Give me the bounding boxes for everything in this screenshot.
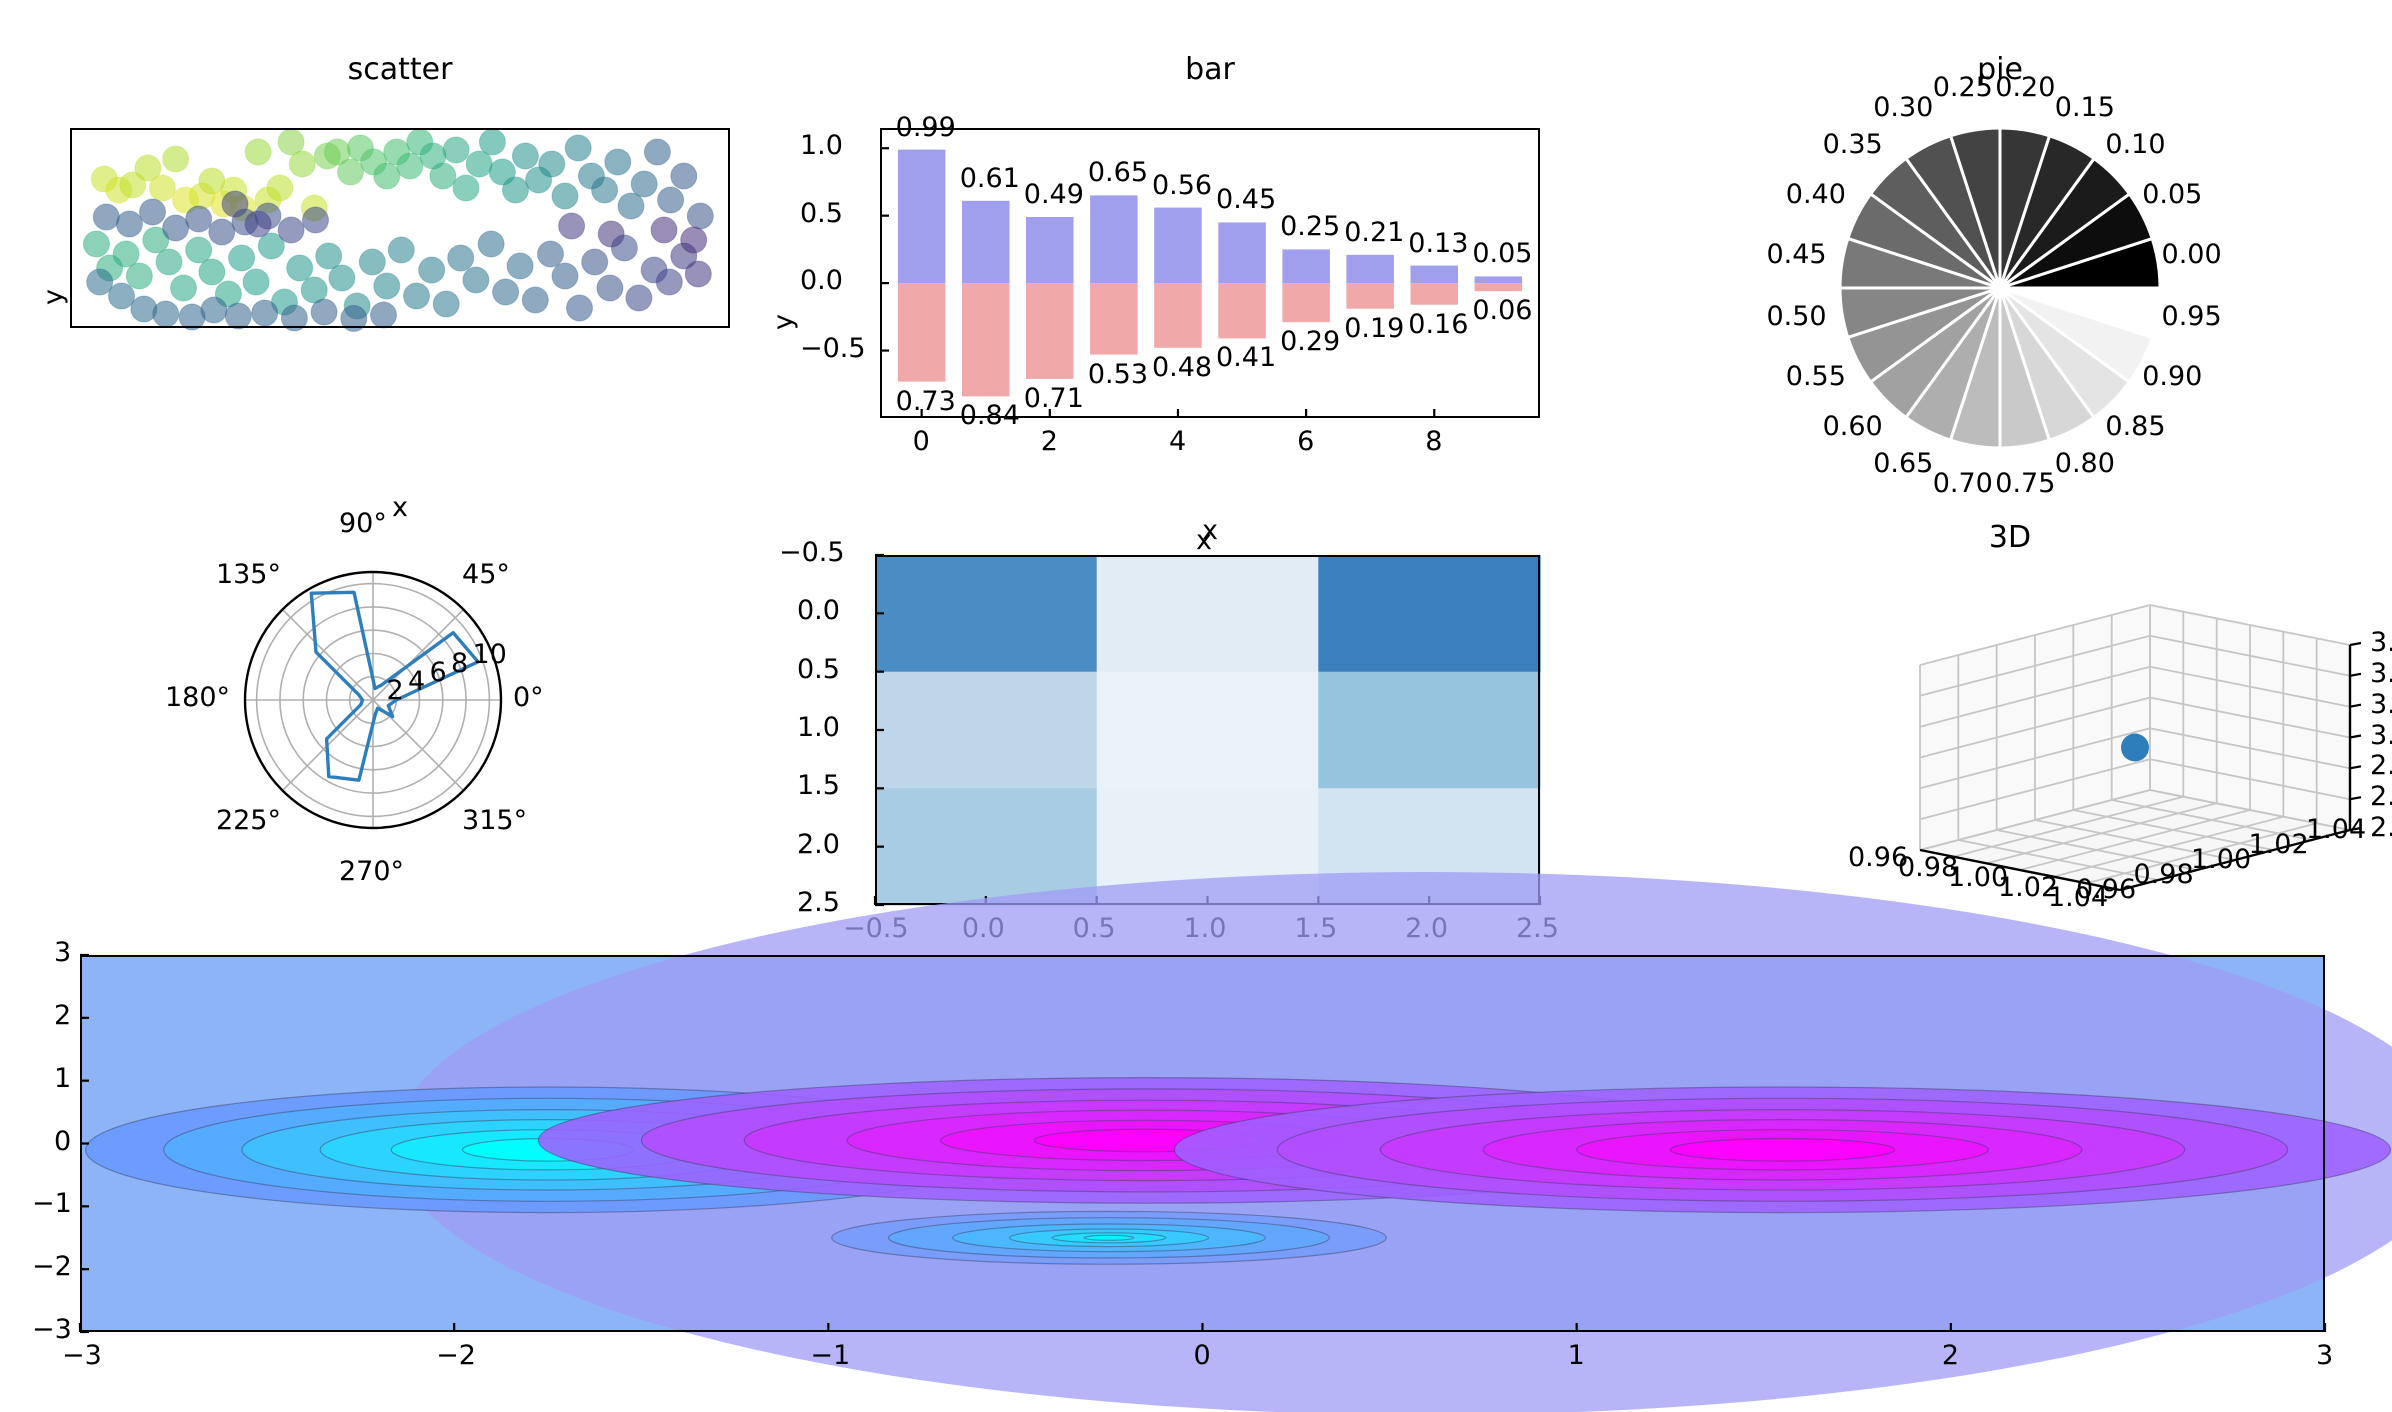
- scatter-point: [267, 175, 293, 201]
- scatter-point: [656, 269, 682, 295]
- scatter-point: [201, 297, 227, 323]
- scatter-point: [171, 275, 197, 301]
- heatmap-cell: [875, 555, 1097, 672]
- bar-positive: [1346, 255, 1394, 283]
- pie-slice-label: 0.05: [2142, 179, 2202, 210]
- scatter-point: [374, 273, 400, 299]
- scatter3d-title: 3D: [1900, 520, 2120, 555]
- heatmap-ytick-label: 0.5: [797, 654, 840, 685]
- bar-xtick-label: 8: [1425, 426, 1442, 457]
- contour-xtick-label: 2: [1942, 1340, 1959, 1371]
- scatter-point: [685, 261, 711, 287]
- scatter-point: [245, 211, 271, 237]
- scatter-point: [651, 217, 677, 243]
- scatter-point: [109, 283, 135, 309]
- scatter-title: scatter: [70, 52, 730, 87]
- heatmap-plot-area: [875, 555, 1540, 905]
- pie-plot-area: [1830, 118, 2170, 458]
- pie-slice-label: 0.65: [1873, 448, 1933, 479]
- ztick-3d: [2350, 736, 2361, 738]
- scatter3d-ytick-label: 1.02: [2249, 829, 2309, 860]
- bar-positive: [1218, 222, 1266, 283]
- scatter-point: [658, 187, 684, 213]
- panel-heatmap: [875, 555, 1540, 905]
- polar-theta-label: 180°: [165, 682, 230, 713]
- bar-xtick-label: 6: [1297, 426, 1314, 457]
- scatter-point: [388, 237, 414, 263]
- polar-radial-label: 4: [408, 666, 425, 697]
- scatter-point: [433, 291, 459, 317]
- bar-positive: [962, 201, 1010, 283]
- scatter-point: [463, 267, 489, 293]
- bar-positive-label: 0.99: [896, 112, 956, 143]
- contour-ytick-label: −1: [32, 1188, 72, 1219]
- scatter-point: [507, 253, 533, 279]
- bar-negative-label: 0.73: [896, 386, 956, 417]
- contour-ytick-label: 3: [54, 937, 71, 968]
- pie-slice-label: 0.55: [1786, 361, 1846, 392]
- heatmap-cell: [1318, 672, 1540, 789]
- ztick-3d: [2350, 705, 2361, 707]
- contour-plot-area: [80, 955, 2325, 1332]
- scatter-point: [316, 243, 342, 269]
- scatter-point: [126, 263, 152, 289]
- contour-xtick-label: 3: [2316, 1340, 2333, 1371]
- polar-theta-label: 225°: [216, 805, 281, 836]
- bar-positive-label: 0.05: [1472, 238, 1532, 269]
- scatter-point: [626, 285, 652, 311]
- bar-negative-label: 0.53: [1088, 359, 1148, 390]
- scatter-point: [93, 204, 119, 230]
- polar-radial-label: 2: [387, 675, 404, 706]
- scatter-point: [552, 263, 578, 289]
- bar-negative: [1411, 283, 1459, 305]
- scatter-point: [149, 175, 175, 201]
- scatter-point: [397, 153, 423, 179]
- bar-positive-label: 0.56: [1152, 170, 1212, 201]
- scatter-point: [681, 227, 707, 253]
- heatmap-ytick-label: 1.0: [797, 712, 840, 743]
- scatter-point: [245, 139, 271, 165]
- pie-slice-label: 0.10: [2105, 129, 2165, 160]
- scatter-point: [567, 295, 593, 321]
- scatter-point: [311, 299, 337, 325]
- pie-slice-label: 0.75: [1995, 468, 2055, 499]
- scatter3d-ytick-label: 0.98: [2134, 859, 2194, 890]
- scatter-point: [687, 203, 713, 229]
- scatter-point: [289, 151, 315, 177]
- scatter3d-ztick-label: 2.95: [2370, 750, 2392, 781]
- bar-positive-label: 0.45: [1216, 184, 1276, 215]
- scatter-point: [222, 191, 248, 217]
- scatter-point: [87, 269, 113, 295]
- scatter-point: [303, 207, 329, 233]
- scatter-point: [618, 193, 644, 219]
- ztick-3d: [2350, 766, 2361, 768]
- pie-slice-label: 0.35: [1823, 129, 1883, 160]
- polar-theta-label: 135°: [216, 559, 281, 590]
- scatter3d-ztick-label: 3.05: [2370, 689, 2392, 720]
- scatter-point: [671, 163, 697, 189]
- scatter-point: [539, 151, 565, 177]
- scatter-point: [479, 129, 505, 155]
- panel-pie: [1830, 118, 2170, 458]
- heatmap-ytick-label: −0.5: [779, 537, 845, 568]
- scatter3d-ytick-label: 0.96: [2076, 874, 2136, 905]
- scatter-point: [229, 245, 255, 271]
- bar-ytick-label: 0.5: [800, 198, 843, 229]
- scatter3d-ztick-label: 3.00: [2370, 720, 2392, 751]
- contour-xtick-label: −2: [436, 1340, 476, 1371]
- scatter-point: [153, 301, 179, 327]
- scatter-point: [281, 305, 307, 331]
- contour-ytick-label: 0: [54, 1126, 71, 1157]
- scatter-point: [453, 175, 479, 201]
- pie-slice-label: 0.00: [2162, 239, 2222, 270]
- heatmap-ytick-label: 2.0: [797, 829, 840, 860]
- scatter-point: [478, 231, 504, 257]
- scatter-point: [597, 275, 623, 301]
- bar-negative-label: 0.06: [1472, 295, 1532, 326]
- scatter-point: [493, 279, 519, 305]
- scatter-point: [186, 237, 212, 263]
- scatter-point: [186, 206, 212, 232]
- scatter-point: [199, 259, 225, 285]
- scatter-point: [252, 300, 278, 326]
- bar-negative-label: 0.16: [1408, 309, 1468, 340]
- heatmap-cell: [1318, 555, 1540, 672]
- scatter-point: [503, 177, 529, 203]
- contour-level: [1670, 1139, 1895, 1162]
- scatter-ylabel: y: [38, 289, 69, 305]
- pie-slice-label: 0.70: [1933, 468, 1993, 499]
- pie-slice-label: 0.25: [1933, 72, 1993, 103]
- bar-negative-label: 0.84: [960, 400, 1020, 431]
- scatter-point: [209, 219, 235, 245]
- pie-slice-label: 0.80: [2055, 448, 2115, 479]
- bar-ytick-label: 0.0: [800, 265, 843, 296]
- bar-xtick-label: 2: [1041, 426, 1058, 457]
- scatter-point: [598, 221, 624, 247]
- scatter-point: [371, 302, 397, 328]
- scatter-point: [582, 249, 608, 275]
- scatter-point: [338, 159, 364, 185]
- scatter-point: [83, 231, 109, 257]
- contour-xtick-label: 1: [1568, 1340, 1585, 1371]
- bar-xtick-label: 4: [1169, 426, 1186, 457]
- contour-level: [1084, 1235, 1134, 1240]
- polar-radial-label: 8: [451, 648, 468, 679]
- scatter-point: [163, 215, 189, 241]
- scatter3d-ztick-label: 3.10: [2370, 658, 2392, 689]
- pie-slice-label: 0.90: [2142, 361, 2202, 392]
- heatmap-ytick-label: 1.5: [797, 770, 840, 801]
- scatter-point: [329, 265, 355, 291]
- scatter-point: [559, 213, 585, 239]
- contour-ytick-label: 2: [54, 1000, 71, 1031]
- pie-slice-label: 0.95: [2162, 301, 2222, 332]
- ztick-3d: [2350, 643, 2361, 645]
- scatter-point: [522, 287, 548, 313]
- heatmap-cell: [875, 672, 1097, 789]
- bar-negative-label: 0.29: [1280, 326, 1340, 357]
- polar-radial-label: 10: [473, 639, 507, 670]
- bar-positive-label: 0.21: [1344, 217, 1404, 248]
- scatter-point: [448, 245, 474, 271]
- panel-scatter: [70, 128, 730, 328]
- scatter-point: [512, 143, 538, 169]
- bar-positive: [1026, 217, 1074, 283]
- scatter3d-ztick-label: 3.15: [2370, 627, 2392, 658]
- contour-ytick-label: −2: [32, 1251, 72, 1282]
- scatter-point: [225, 303, 251, 329]
- bar-positive: [1411, 266, 1459, 284]
- scatter-point: [287, 255, 313, 281]
- polar-radial-label: 6: [430, 657, 447, 688]
- polar-theta-label: 90°: [339, 508, 387, 539]
- scatter-point: [419, 257, 445, 283]
- bar-negative: [1090, 283, 1138, 355]
- bar-positive: [1282, 249, 1330, 283]
- panel-contour: [80, 955, 2325, 1332]
- scatter-plot-area: [70, 128, 730, 328]
- bar-negative: [1282, 283, 1330, 322]
- scatter3d-ztick-label: 2.85: [2370, 812, 2392, 843]
- scatter-point: [243, 269, 269, 295]
- pie-slice-label: 0.85: [2105, 411, 2165, 442]
- bar-positive-label: 0.49: [1024, 179, 1084, 210]
- scatter-point: [404, 283, 430, 309]
- pie-slice-label: 0.50: [1766, 301, 1826, 332]
- bar-negative: [1026, 283, 1074, 379]
- scatter-point: [605, 149, 631, 175]
- heatmap-cell: [1097, 555, 1319, 672]
- bar-title: bar: [880, 52, 1540, 87]
- bar-positive-label: 0.61: [960, 163, 1020, 194]
- scatter-point: [359, 249, 385, 275]
- bar-positive-label: 0.13: [1408, 228, 1468, 259]
- bar-ylabel: y: [768, 314, 799, 330]
- ztick-3d: [2350, 797, 2361, 799]
- contour-ytick-label: −3: [32, 1314, 72, 1345]
- bar-positive: [898, 150, 946, 284]
- bar-positive-label: 0.25: [1280, 211, 1340, 242]
- bar-negative-label: 0.48: [1152, 352, 1212, 383]
- scatter-point: [466, 151, 492, 177]
- polar-theta-label: 0°: [513, 682, 544, 713]
- bar-negative: [1475, 283, 1523, 291]
- scatter3d-ztick-label: 2.90: [2370, 781, 2392, 812]
- bar-negative-label: 0.71: [1024, 383, 1084, 414]
- scatter-point: [116, 211, 142, 237]
- bar-positive: [1154, 208, 1202, 284]
- heatmap-xlabel: x: [1196, 525, 1212, 556]
- bar-positive-label: 0.65: [1088, 157, 1148, 188]
- scatter-point: [430, 163, 456, 189]
- heatmap-ytick-label: 0.0: [797, 595, 840, 626]
- bar-xtick-label: 0: [913, 426, 930, 457]
- polar-theta-label: 270°: [339, 856, 404, 887]
- scatter-point: [156, 249, 182, 275]
- bar-negative-label: 0.19: [1344, 313, 1404, 344]
- contour-xtick-label: 0: [1194, 1340, 1211, 1371]
- bar-negative: [1346, 283, 1394, 309]
- scatter-point: [565, 135, 591, 161]
- polar-theta-label: 45°: [462, 559, 510, 590]
- scatter-point: [341, 305, 367, 331]
- scatter-point: [163, 146, 189, 172]
- pie-slice-label: 0.40: [1786, 179, 1846, 210]
- scatter3d-ytick-label: 1.04: [2306, 814, 2366, 845]
- figure-canvas: scatter y x bar y x −0.50.00.51.002468 0…: [0, 0, 2392, 1412]
- scatter-point: [374, 163, 400, 189]
- bar-negative: [1154, 283, 1202, 348]
- scatter-point: [443, 137, 469, 163]
- scatter-point: [552, 183, 578, 209]
- pie-slice-label: 0.45: [1766, 239, 1826, 270]
- scatter-xlabel: x: [392, 492, 408, 523]
- scatter-point: [140, 199, 166, 225]
- bar-negative: [1218, 283, 1266, 338]
- pie-slice-label: 0.20: [1995, 72, 2055, 103]
- scatter-point: [644, 139, 670, 165]
- bar-positive: [1090, 195, 1138, 283]
- bar-ytick-label: −0.5: [800, 333, 866, 364]
- bar-positive: [1475, 276, 1523, 283]
- pie-slice-label: 0.30: [1873, 92, 1933, 123]
- scatter-point: [592, 177, 618, 203]
- heatmap-ytick-label: 2.5: [797, 887, 840, 918]
- polar-theta-label: 315°: [462, 805, 527, 836]
- pie-slice-label: 0.60: [1823, 411, 1883, 442]
- scatter3d-point: [2121, 734, 2149, 762]
- ztick-3d: [2350, 674, 2361, 676]
- bar-negative-label: 0.41: [1216, 342, 1276, 373]
- panel-polar: [228, 555, 518, 845]
- pie-slice-label: 0.15: [2055, 92, 2115, 123]
- bar-ytick-label: 1.0: [800, 130, 843, 161]
- heatmap-cell: [1097, 672, 1319, 789]
- scatter3d-ytick-label: 1.00: [2191, 844, 2251, 875]
- heatmap-cell: [875, 788, 1097, 905]
- scatter-point: [631, 171, 657, 197]
- scatter-point: [278, 217, 304, 243]
- scatter-point: [113, 241, 139, 267]
- polar-plot-area: [228, 555, 518, 845]
- contour-ytick-label: 1: [54, 1063, 71, 1094]
- scatter-point: [538, 241, 564, 267]
- bar-negative: [898, 283, 946, 382]
- bar-negative: [962, 283, 1010, 396]
- contour-xtick-label: −1: [810, 1340, 850, 1371]
